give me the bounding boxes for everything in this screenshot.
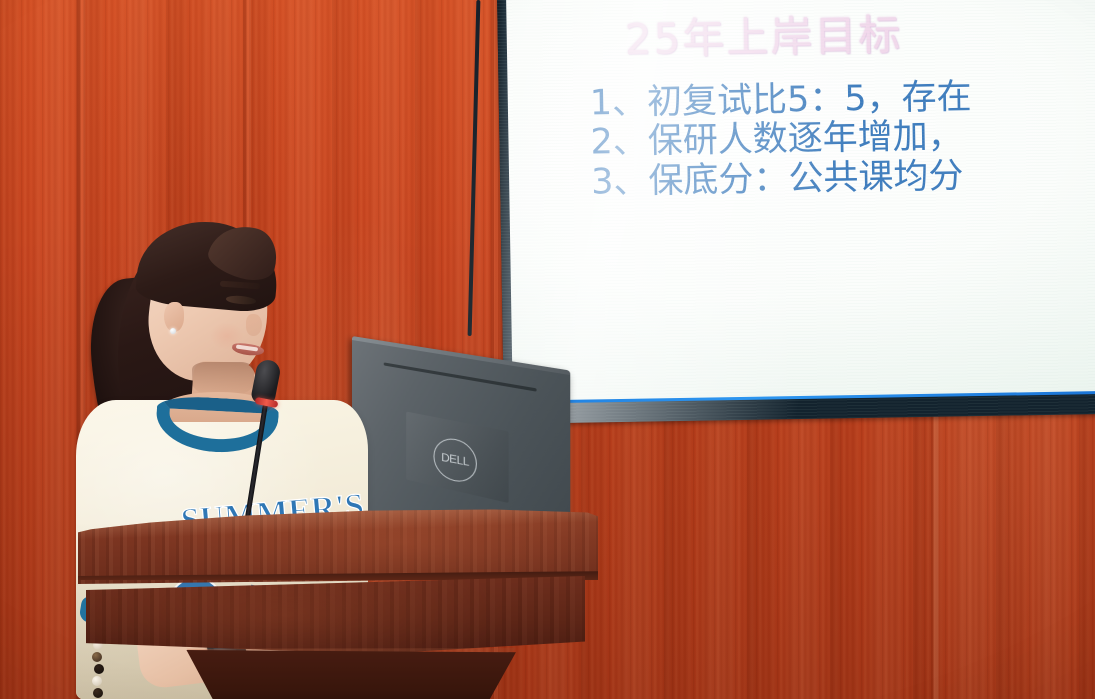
presentation-scene: 25年上岸目标 1、初复试比5：5，存在 2、保研人数逐年增加， 3、保底分：公… [0,0,1095,699]
slide-title: 25年上岸目标 [506,8,1095,66]
slide-body: 1、初复试比5：5，存在 2、保研人数逐年增加， 3、保底分：公共课均分 [508,76,1095,205]
projection-screen: 25年上岸目标 1、初复试比5：5，存在 2、保研人数逐年增加， 3、保底分：公… [497,0,1095,424]
podium [78,508,598,699]
podium-front-face [86,576,585,654]
slide-bullet-3: 3、保底分：公共课均分 [591,155,1095,203]
monitor-top-highlight [352,336,570,375]
earring [170,328,176,334]
slide-content: 25年上岸目标 1、初复试比5：5，存在 2、保研人数逐年增加， 3、保底分：公… [506,0,1095,402]
monitor-vent-slot [384,362,537,391]
podium-base [164,650,538,699]
